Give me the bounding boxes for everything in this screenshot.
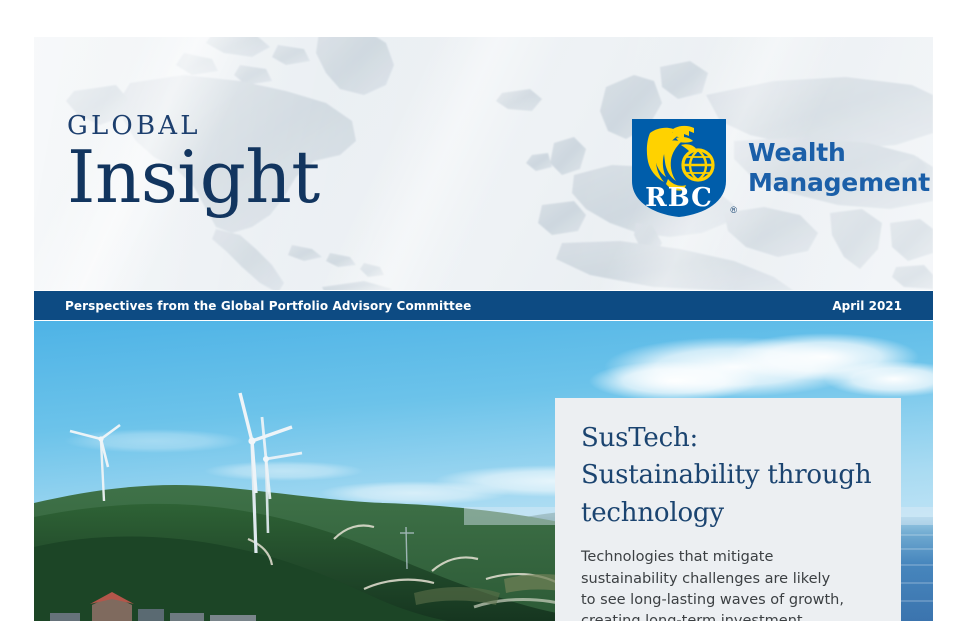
rbc-shield-icon: RBC ®: [632, 119, 726, 217]
svg-text:RBC: RBC: [645, 183, 713, 213]
division-line-2: Management: [748, 168, 930, 199]
banner-issue-date: April 2021: [832, 299, 902, 313]
summary-line-1: Technologies that mitigate: [581, 547, 875, 568]
cover-story-card: SusTech: Sustainability through technolo…: [555, 398, 901, 621]
magazine-cover-page: GLOBAL Insight: [0, 0, 966, 621]
division-name: Wealth Management: [748, 138, 930, 199]
masthead-header: GLOBAL Insight: [34, 37, 933, 290]
summary-line-4: creating long-term investment: [581, 611, 875, 621]
cover-story-summary: Technologies that mitigate sustainabilit…: [581, 547, 875, 621]
title-line-1: SusTech:: [581, 420, 875, 457]
cover-story-title: SusTech: Sustainability through technolo…: [581, 420, 875, 532]
publication-brand: GLOBAL Insight: [67, 113, 320, 214]
title-line-2: Sustainability through: [581, 457, 875, 494]
summary-line-2: sustainability challenges are likely: [581, 569, 875, 590]
rbc-wealth-management-logo: RBC ® Wealth Management: [632, 119, 930, 217]
summary-line-3: to see long-lasting waves of growth,: [581, 590, 875, 611]
registered-trademark-icon: ®: [730, 205, 737, 215]
title-line-3: technology: [581, 495, 875, 532]
brand-insight-text: Insight: [67, 141, 320, 214]
division-line-1: Wealth: [748, 138, 930, 169]
subtitle-banner: Perspectives from the Global Portfolio A…: [34, 291, 933, 320]
banner-subtitle: Perspectives from the Global Portfolio A…: [65, 299, 471, 313]
